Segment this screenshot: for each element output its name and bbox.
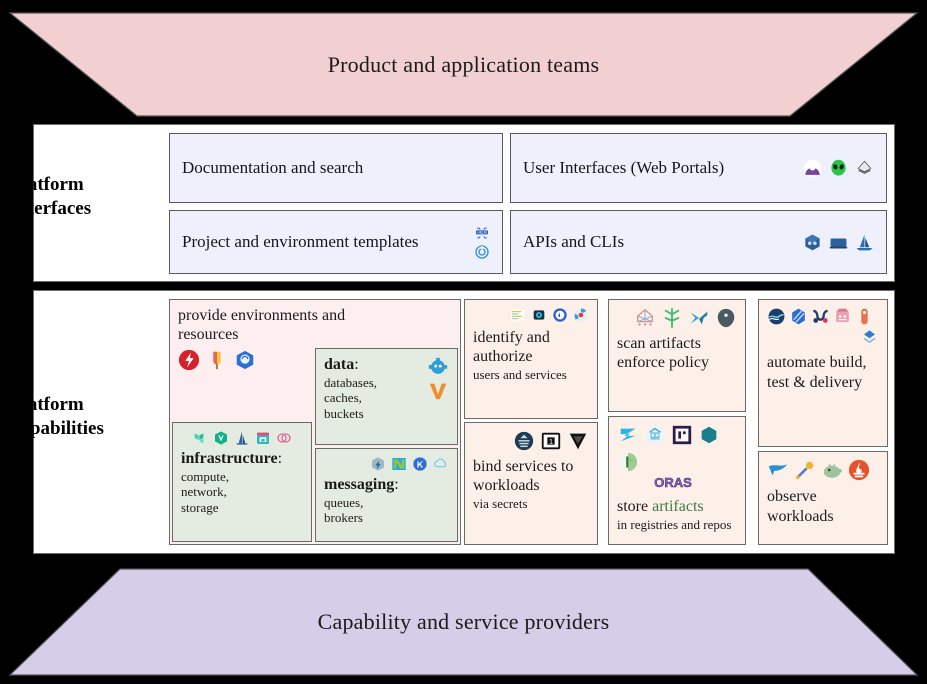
messaging-sub: queues, brokers <box>324 495 449 526</box>
external-secrets-icon: 1 <box>540 430 562 452</box>
keptn-icon <box>855 307 874 326</box>
svg-text:HELM: HELM <box>477 230 486 234</box>
jenkins-x-icon <box>811 307 830 326</box>
terraform-icon <box>192 430 208 446</box>
tile-templates-label: Project and environment templates <box>182 232 474 252</box>
svg-text:ORAS: ORAS <box>654 475 692 490</box>
terminal-icon <box>829 233 848 252</box>
sailboat-icon <box>855 233 874 252</box>
dagger-icon <box>860 328 879 347</box>
capability-observe-workloads[interactable]: observe workloads <box>758 451 888 545</box>
backstage-icon <box>803 159 822 178</box>
vault-icon <box>213 430 229 446</box>
tile-project-and-environment-templates[interactable]: Project and environment templates HELM <box>169 210 503 274</box>
spiffe-icon <box>531 307 547 323</box>
knative-icon <box>370 456 386 472</box>
messaging-heading-rest: : <box>394 476 398 493</box>
oras-icon: ORAS <box>647 474 699 490</box>
scan-icon-group <box>617 307 737 329</box>
provide-environments-heading: provide environments and resources <box>178 307 408 345</box>
tile-portals-label: User Interfaces (Web Portals) <box>523 158 803 178</box>
pulumi-icon <box>234 430 250 446</box>
automate-icon-group <box>767 307 879 326</box>
postgres-operator-icon <box>427 356 449 378</box>
cloudevents-icon <box>433 456 449 472</box>
opa-icon <box>510 307 526 323</box>
port-alien-icon <box>829 159 848 178</box>
tile-templates-icon-group: HELM <box>474 225 490 260</box>
capability-store-artifacts[interactable]: ORAS store artifacts in registries and r… <box>608 416 746 545</box>
tile-apis-label: APIs and CLIs <box>523 232 803 252</box>
nats-icon <box>391 456 407 472</box>
data-heading-bold: data <box>324 356 354 373</box>
bottom-band-label: Capability and service providers <box>318 609 610 635</box>
data-heading-rest: : <box>354 356 358 373</box>
platform-capabilities-label-line1: platform <box>12 393 142 417</box>
ansible-icon <box>255 430 271 446</box>
identify-icon-group <box>473 307 589 323</box>
capability-identify-and-authorize[interactable]: identify and authorize users and service… <box>464 299 598 419</box>
store-icon-group <box>617 424 737 473</box>
messaging-heading-bold: messaging <box>324 476 394 493</box>
bind-icon-group: 1 <box>473 430 589 452</box>
bind-heading: bind services to workloads <box>473 458 589 496</box>
identify-heading: identify and authorize <box>473 329 589 367</box>
prometheus-icon <box>848 459 870 481</box>
hexagon-registry-icon <box>698 424 720 446</box>
infrastructure-heading-rest: : <box>278 450 282 467</box>
keycloak-icon <box>552 307 568 323</box>
infrastructure-sub: compute, network, storage <box>181 469 303 516</box>
grafana-loki-icon <box>821 459 843 481</box>
crossplane-icon <box>276 430 292 446</box>
dex-icon <box>573 307 589 323</box>
capability-messaging[interactable]: K messaging: queues, brokers <box>315 448 458 542</box>
artifacthub-icon <box>617 451 639 473</box>
argo-workflows-icon <box>789 307 808 326</box>
store-heading-plain: store <box>617 498 652 515</box>
identify-sub: users and services <box>473 367 589 383</box>
svg-text:K: K <box>417 459 424 469</box>
opa-gatekeeper-icon <box>661 307 683 329</box>
platform-interfaces-label-line1: platform <box>12 173 142 197</box>
product-and-application-teams-band: Product and application teams <box>0 12 927 117</box>
observe-heading: observe workloads <box>767 487 879 527</box>
platform-interfaces-label: platform interfaces <box>12 173 142 221</box>
infrastructure-heading: infrastructure: <box>181 450 303 469</box>
tile-portals-icon-group <box>803 159 874 178</box>
tile-documentation-and-search[interactable]: Documentation and search <box>169 133 503 203</box>
zot-icon <box>617 424 639 446</box>
fluentd-icon <box>767 459 789 481</box>
data-heading: data: <box>324 356 377 375</box>
service-binding-icon <box>513 430 535 452</box>
capability-and-service-providers-band: Capability and service providers <box>0 568 927 676</box>
observe-icon-group <box>767 459 879 481</box>
falco-icon <box>688 307 710 329</box>
svg-text:1: 1 <box>549 437 553 446</box>
helm-icon: HELM <box>474 225 490 241</box>
infrastructure-heading-bold: infrastructure <box>181 450 278 467</box>
scan-heading: scan artifacts enforce policy <box>617 335 737 373</box>
vault-secrets-icon <box>567 430 589 452</box>
capability-scan-artifacts-enforce-policy[interactable]: scan artifacts enforce policy <box>608 299 746 412</box>
kubernetes-api-icon <box>803 233 822 252</box>
cartographer-icon <box>833 307 852 326</box>
store-sub: in registries and repos <box>617 517 737 533</box>
platform-capabilities-label: platform capabilities <box>12 393 142 441</box>
harbor-icon <box>644 424 666 446</box>
flux-icon <box>206 349 228 371</box>
tekton-icon <box>767 307 786 326</box>
kafka-icon: K <box>412 456 428 472</box>
capability-data[interactable]: data: databases, caches, buckets <box>315 348 458 445</box>
tile-apis-and-clis[interactable]: APIs and CLIs <box>510 210 887 274</box>
opentelemetry-icon <box>794 459 816 481</box>
argo-icon <box>178 349 200 371</box>
kubevela-icon <box>234 349 256 371</box>
messaging-icon-group: K <box>324 456 449 472</box>
top-band-label: Product and application teams <box>328 52 600 78</box>
automate-icon-group-row2 <box>767 328 879 347</box>
cortex-icon <box>855 159 874 178</box>
infrastructure-icon-group <box>181 430 303 446</box>
tile-apis-icon-group <box>803 233 874 252</box>
messaging-heading: messaging: <box>324 476 449 495</box>
automate-heading: automate build, test & delivery <box>767 353 879 393</box>
capability-automate-build-test-delivery[interactable]: automate build, test & delivery <box>758 299 888 447</box>
store-heading-accent: artifacts <box>652 498 704 515</box>
store-heading: store artifacts <box>617 498 737 517</box>
tile-user-interfaces-web-portals[interactable]: User Interfaces (Web Portals) <box>510 133 887 203</box>
capability-infrastructure[interactable]: infrastructure: compute, network, storag… <box>172 422 312 542</box>
platform-capabilities-label-line2: capabilities <box>12 417 142 441</box>
platform-interfaces-label-line2: interfaces <box>12 197 142 221</box>
trivy-icon <box>715 307 737 329</box>
vitess-icon <box>427 380 449 402</box>
bind-sub: via secrets <box>473 496 589 512</box>
tile-documentation-label: Documentation and search <box>182 158 490 178</box>
data-sub: databases, caches, buckets <box>324 375 377 422</box>
distribution-icon <box>671 424 693 446</box>
kustomize-icon <box>474 244 490 260</box>
capability-bind-services-to-workloads[interactable]: 1 bind services to workloads via secrets <box>464 422 598 545</box>
kyverno-icon <box>634 307 656 329</box>
data-icon-group <box>427 356 449 402</box>
